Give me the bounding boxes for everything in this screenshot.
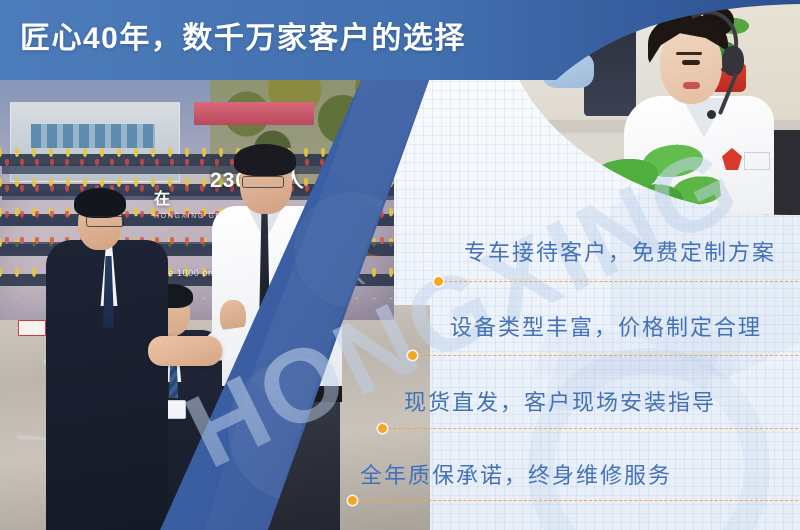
feature-item-3: 现货直发，客户现场安装指导 (404, 385, 716, 417)
feature-divider-4 (358, 500, 798, 501)
feature-divider-dot-2 (408, 351, 417, 360)
feature-item-1: 专车接待客户，免费定制方案 (464, 235, 776, 267)
feature-divider-dot-4 (348, 496, 357, 505)
feature-divider-3 (388, 428, 798, 429)
feature-list: 专车接待客户，免费定制方案 设备类型丰富，价格制定合理 现货直发，客户现场安装指… (0, 0, 800, 530)
feature-divider-dot-1 (434, 277, 443, 286)
feature-divider-1 (444, 281, 798, 282)
feature-item-2: 设备类型丰富，价格制定合理 (450, 310, 762, 342)
promo-banner: 在 2300余人 HONGXING GROUP with the 1000 on… (0, 0, 800, 530)
feature-divider-dot-3 (378, 424, 387, 433)
feature-item-4: 全年质保承诺，终身维修服务 (360, 458, 672, 490)
feature-divider-2 (418, 355, 798, 356)
